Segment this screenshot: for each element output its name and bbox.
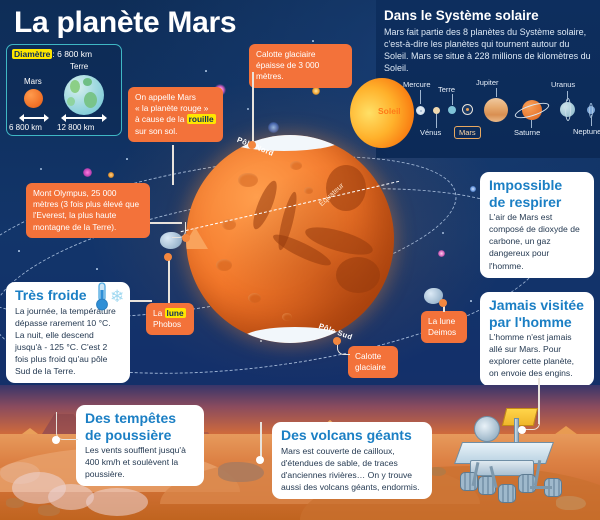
diameter-highlight: Diamètre <box>12 49 52 59</box>
callout-phobos[interactable]: La lune Phobos <box>146 303 194 335</box>
connector-storms <box>56 412 78 440</box>
earth-mini-globe <box>64 75 104 115</box>
panel-breathe[interactable]: Impossible de respirer L'air de Mars est… <box>480 172 594 278</box>
panel-storms-body: Les vents soufflent jusqu'à 400 km/h et … <box>85 444 195 480</box>
solar-system-panel: Dans le Système solaire Mars fait partie… <box>376 0 600 158</box>
red-planet-line4: sur son sol. <box>135 126 216 137</box>
diameter-value: : 6 800 km <box>52 49 92 59</box>
earth-landmass <box>84 92 97 108</box>
panel-breathe-title-1: Impossible <box>489 178 585 193</box>
earth-landmass <box>70 80 80 93</box>
panel-volcanoes-title: Des volcans géants <box>281 428 423 443</box>
star <box>205 70 207 72</box>
panel-breathe-title-2: de respirer <box>489 195 585 210</box>
solar-system-diagram: Soleil Mercure Vénus Terre Mars Jupiter <box>376 74 600 158</box>
mars-crater <box>216 259 232 271</box>
callout-ice-cap-top[interactable]: Calotte glaciaire épaisse de 3 000 mètre… <box>249 44 352 88</box>
panel-never-visited[interactable]: Jamais visitée par l'homme L'homme n'est… <box>480 292 594 386</box>
earth-landmass <box>67 97 75 106</box>
planet-label-mars: Mars <box>454 126 481 139</box>
nebula-dot <box>312 87 320 95</box>
mars-planet <box>186 135 394 343</box>
mars-diameter-arrow <box>19 113 49 122</box>
star <box>40 168 42 170</box>
mars-valley <box>336 257 380 293</box>
deimos-line2: Deimos <box>428 327 460 338</box>
uranus-ring <box>565 98 571 121</box>
panel-storms[interactable]: Des tempêtes de poussière Les vents souf… <box>76 405 204 486</box>
nebula-dot <box>470 186 476 192</box>
mars-crater <box>238 173 258 187</box>
connector-dot-white <box>52 436 60 444</box>
connector-rover-elbow <box>524 416 540 430</box>
panel-never-visited-body: L'homme n'est jamais allé sur Mars. Pour… <box>489 331 585 379</box>
connector-red-planet <box>172 145 174 185</box>
planet-tick <box>452 94 453 105</box>
earth-diameter-arrow <box>61 113 107 122</box>
rover-antenna-dish <box>474 416 500 442</box>
connector-cold <box>130 300 152 302</box>
infographic-root: La planète Mars Diamètre: 6 800 km Mars … <box>0 0 600 520</box>
red-planet-line3: à cause de la rouille <box>135 114 216 125</box>
diameter-box: Diamètre: 6 800 km Mars Terre 6 800 km 1… <box>6 44 122 136</box>
connector-volcanoes <box>260 422 262 460</box>
mars-crater <box>282 313 292 321</box>
solar-system-body: Mars fait partie des 8 planètes du Systè… <box>384 26 592 75</box>
solar-system-heading: Dans le Système solaire <box>384 8 592 23</box>
sun-label: Soleil <box>378 106 401 116</box>
dust-cloud <box>0 462 40 484</box>
mars-crater <box>304 187 313 194</box>
panel-volcanoes[interactable]: Des volcans géants Mars est couverte de … <box>272 422 432 499</box>
planet-tick <box>436 114 437 128</box>
planet-tick <box>420 90 421 104</box>
star <box>312 40 314 42</box>
panel-never-visited-title-2: par l'homme <box>489 315 585 330</box>
rouille-highlight: rouille <box>187 114 216 124</box>
ice-cap-bottom-line1: Calotte <box>355 351 391 362</box>
star <box>126 158 128 160</box>
planet-label-saturne: Saturne <box>514 128 540 137</box>
panel-breathe-body: L'air de Mars est composé de dioxyde de … <box>489 211 585 271</box>
planet-jupiter <box>484 98 508 122</box>
star <box>247 108 249 110</box>
nebula-dot <box>83 168 92 177</box>
diameter-title: Diamètre: 6 800 km <box>12 49 92 59</box>
planet-mercure-core <box>420 110 422 112</box>
planet-label-venus: Vénus <box>420 128 441 137</box>
callout-ice-cap-bottom[interactable]: Calotte glaciaire <box>348 346 398 378</box>
ice-cap-bottom-line2: glaciaire <box>355 362 391 373</box>
planet-label-mercure: Mercure <box>403 80 431 89</box>
panel-never-visited-title-1: Jamais visitée <box>489 298 585 313</box>
connector-phobos <box>168 258 170 303</box>
planet-tick <box>496 88 497 97</box>
planet-terre <box>448 106 456 114</box>
connector-dot <box>333 337 341 345</box>
red-planet-line1: On appelle Mars <box>135 92 216 103</box>
deimos-line1: La lune <box>428 316 460 327</box>
mars-km-label: 6 800 km <box>9 123 42 132</box>
red-planet-line2: « la planète rouge » <box>135 103 216 114</box>
planet-label-neptune: Neptune <box>573 127 600 136</box>
callout-ice-cap-top-text: Calotte glaciaire épaisse de 3 000 mètre… <box>256 49 319 81</box>
planet-mars-core <box>466 108 469 111</box>
connector-dot <box>439 299 447 307</box>
planet-tick <box>567 91 568 101</box>
callout-mont-olympus[interactable]: Mont Olympus, 25 000 mètres (3 fois plus… <box>26 183 150 238</box>
crater-rock <box>218 462 264 482</box>
earth-landmass <box>83 78 92 86</box>
rover-wheel <box>498 484 516 503</box>
earth-km-label: 12 800 km <box>57 123 94 132</box>
connector-ice-cap-top <box>252 72 254 144</box>
earth-mini-label: Terre <box>70 62 88 71</box>
page-title: La planète Mars <box>14 6 236 40</box>
planet-tick <box>531 120 532 128</box>
planet-label-terre: Terre <box>438 85 455 94</box>
callout-red-planet[interactable]: On appelle Mars « la planète rouge » à c… <box>128 87 223 142</box>
lune-highlight: lune <box>165 308 186 318</box>
planet-label-uranus: Uranus <box>551 80 575 89</box>
mars-mini-label: Mars <box>24 77 42 86</box>
connector-dot <box>164 253 172 261</box>
nebula-dot <box>108 172 114 178</box>
mars-crater <box>290 161 302 170</box>
connector-dot <box>182 234 190 242</box>
planet-venus <box>433 107 440 114</box>
panel-storms-title-2: de poussière <box>85 428 195 443</box>
panel-volcanoes-body: Mars est couverte de cailloux, d'étendue… <box>281 445 423 493</box>
mars-crater <box>248 293 261 303</box>
rock <box>430 467 446 476</box>
callout-deimos[interactable]: La lune Deimos <box>421 311 467 343</box>
phobos-line2: Phobos <box>153 319 187 330</box>
callout-mont-olympus-text: Mont Olympus, 25 000 mètres (3 fois plus… <box>33 188 139 232</box>
rover-lower-arm <box>530 486 552 489</box>
snowflake-icon: ❄ <box>110 288 124 305</box>
planet-label-jupiter: Jupiter <box>476 78 499 87</box>
connector-dot-white <box>256 456 264 464</box>
planet-tick <box>591 115 592 126</box>
mars-rover <box>452 412 584 504</box>
thermometer-icon <box>93 282 111 317</box>
panel-storms-title-1: Des tempêtes <box>85 411 195 426</box>
dust-cloud <box>86 488 148 516</box>
mars-mini-globe <box>24 89 43 108</box>
connector-dot <box>248 141 256 149</box>
connector-dot-white <box>518 426 526 434</box>
phobos-line1: La lune <box>153 308 187 319</box>
